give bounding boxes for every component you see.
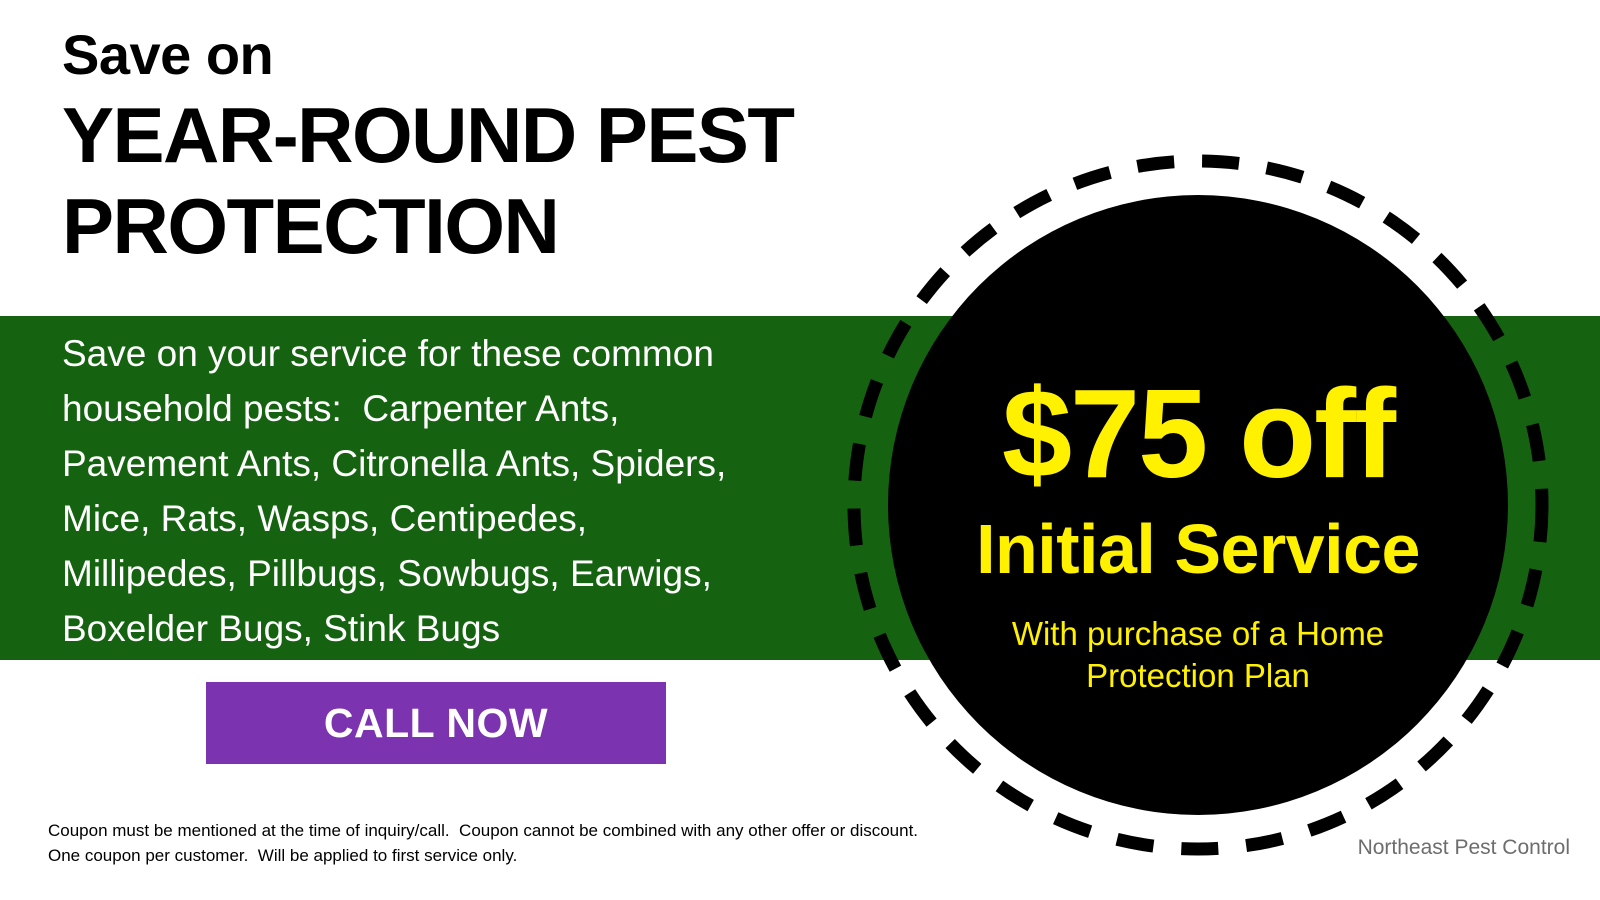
pest-list-line-3: Pavement Ants, Citronella Ants, Spiders, xyxy=(62,436,792,491)
discount-badge: $75 off Initial Service With purchase of… xyxy=(843,150,1553,860)
fine-print-line-1: Coupon must be mentioned at the time of … xyxy=(48,818,1008,843)
fine-print-disclaimer: Coupon must be mentioned at the time of … xyxy=(48,818,1008,868)
badge-text-group: $75 off Initial Service With purchase of… xyxy=(888,195,1508,815)
pest-list-line-2: household pests: Carpenter Ants, xyxy=(62,381,792,436)
pest-list-line-6: Boxelder Bugs, Stink Bugs xyxy=(62,601,792,656)
pest-list-paragraph: Save on your service for these common ho… xyxy=(62,326,792,656)
company-attribution: Northeast Pest Control xyxy=(1180,836,1570,860)
pest-list-line-4: Mice, Rats, Wasps, Centipedes, xyxy=(62,491,792,546)
headline-block: Save on YEAR-ROUND PEST PROTECTION xyxy=(62,26,882,271)
headline-title-line-1: YEAR-ROUND PEST xyxy=(62,90,882,180)
fine-print-line-2: One coupon per customer. Will be applied… xyxy=(48,843,1008,868)
call-now-button[interactable]: CALL NOW xyxy=(206,682,666,764)
headline-title: YEAR-ROUND PEST PROTECTION xyxy=(62,90,882,271)
headline-title-line-2: PROTECTION xyxy=(62,181,882,271)
pest-list-line-1: Save on your service for these common xyxy=(62,326,792,381)
badge-service-label: Initial Service xyxy=(976,513,1420,587)
coupon-advertisement: Save on YEAR-ROUND PEST PROTECTION Save … xyxy=(0,0,1600,900)
pest-list-line-5: Millipedes, Pillbugs, Sowbugs, Earwigs, xyxy=(62,546,792,601)
badge-discount-amount: $75 off xyxy=(1002,371,1394,497)
badge-condition-text: With purchase of a Home Protection Plan xyxy=(983,613,1413,697)
headline-eyebrow: Save on xyxy=(62,26,882,84)
